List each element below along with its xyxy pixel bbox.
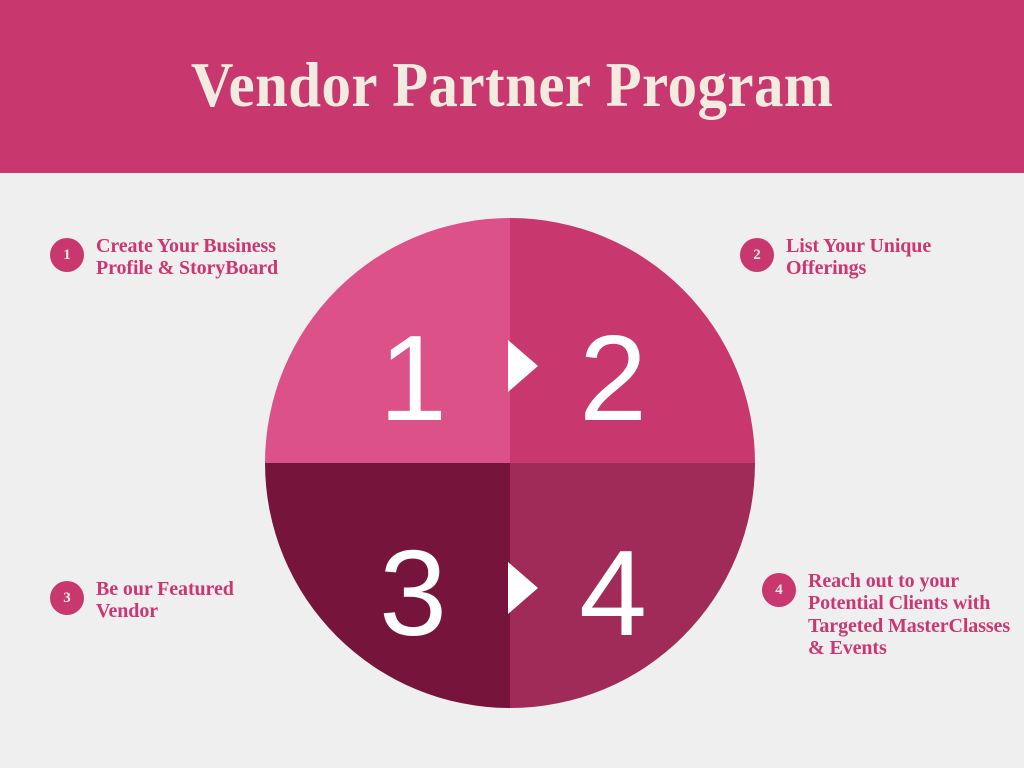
wheel-quadrant-1-number: 1 bbox=[379, 310, 447, 446]
step-callout-1[interactable]: 1 Create Your Business Profile & StoryBo… bbox=[50, 235, 320, 280]
step-callout-4[interactable]: 4 Reach out to your Potential Clients wi… bbox=[762, 570, 1012, 660]
step-label-2: List Your Unique Offerings bbox=[786, 235, 1010, 280]
step-badge-4: 4 bbox=[762, 573, 796, 607]
wheel-quadrant-4-number: 4 bbox=[579, 525, 647, 661]
step-label-4: Reach out to your Potential Clients with… bbox=[808, 570, 1012, 660]
four-step-wheel-diagram: 1 2 3 4 bbox=[265, 218, 755, 708]
step-badge-2: 2 bbox=[740, 238, 774, 272]
page-title: Vendor Partner Program bbox=[191, 53, 833, 117]
wheel-quadrant-2-number: 2 bbox=[579, 310, 647, 446]
step-label-3: Be our Featured Vendor bbox=[96, 578, 290, 623]
step-callout-2[interactable]: 2 List Your Unique Offerings bbox=[740, 235, 1010, 280]
step-callout-3[interactable]: 3 Be our Featured Vendor bbox=[50, 578, 290, 623]
header-band: Vendor Partner Program bbox=[0, 0, 1024, 173]
wheel-quadrant-3-number: 3 bbox=[379, 525, 447, 661]
step-label-1: Create Your Business Profile & StoryBoar… bbox=[96, 235, 320, 280]
step-badge-1: 1 bbox=[50, 238, 84, 272]
step-badge-3: 3 bbox=[50, 581, 84, 615]
